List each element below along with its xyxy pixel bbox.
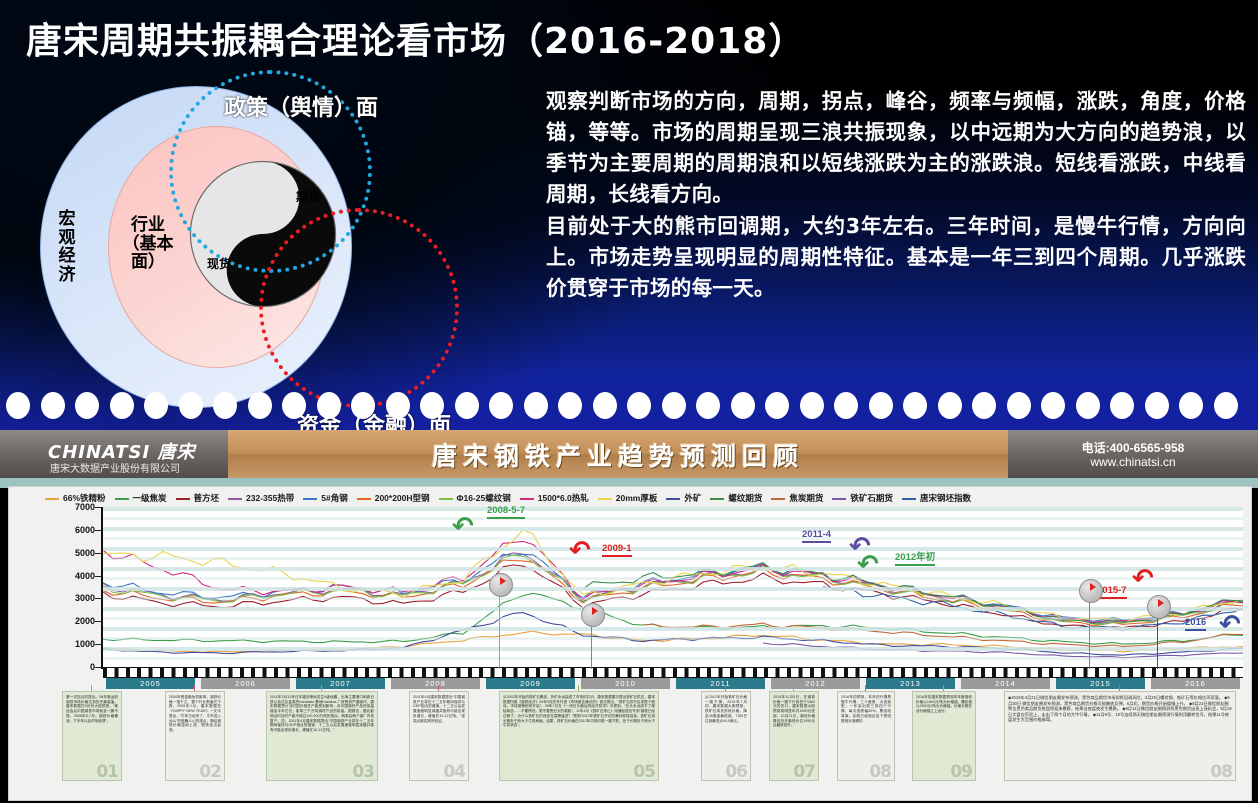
decorative-dot [179, 392, 203, 419]
decorative-dot [903, 392, 927, 419]
legend-color-swatch [303, 498, 317, 500]
decorative-dot [1041, 392, 1065, 419]
x-axis-ticks [103, 667, 1243, 678]
footnote-card[interactable]: 2016年初唐宋数据预测本年度钢坯价格以1800元/吨为价格锚，螺纹钢以2500… [912, 691, 976, 781]
legend-color-swatch [45, 498, 59, 500]
footnote-connector-line [793, 685, 794, 691]
decorative-dot [213, 392, 237, 419]
legend-item[interactable]: 螺纹期货 [710, 492, 762, 504]
footnote-number: 08 [869, 762, 891, 781]
chart-annotation-underline [487, 517, 525, 519]
chart-annotation-arrow-icon: ↶ [569, 537, 591, 563]
footnote-connector-line [943, 685, 944, 691]
decorative-dot [834, 392, 858, 419]
chart-annotation-underline [1097, 597, 1127, 599]
footnote-number: 05 [633, 762, 655, 781]
contact-website: www.chinatsi.cn [1008, 455, 1258, 469]
chart-annotation: 2011-4 [802, 529, 831, 543]
label-industry: 行业（基本面） [119, 216, 177, 272]
footnote-connector-line [865, 685, 866, 691]
legend-item-label: 1500*6.0热轧 [538, 493, 589, 503]
legend-item-label: 唐宋钢坯指数 [920, 493, 971, 503]
footnote-card[interactable]: 2011年4月唐宋数据提出“中国钢铁产业将在十二五年期间保持与GDP相近的增速。… [409, 691, 469, 781]
decorative-dot [41, 392, 65, 419]
footnote-card[interactable]: 从2002年开始的铁矿石暴涨，外矿永远缺成了市场的共识。唐宋数据屡次提出铁矿石供… [499, 691, 659, 781]
company-name: 唐宋大数据产业股份有限公司 [50, 460, 180, 475]
chart-annotation-underline [802, 541, 831, 543]
label-policy: 政策（舆情）面 [224, 90, 378, 122]
decorative-dot [1179, 392, 1203, 419]
legend-item[interactable]: 唐宋钢坯指数 [902, 492, 971, 504]
legend-item[interactable]: 普方坯 [176, 492, 220, 504]
decorative-dot [386, 392, 410, 419]
chart-gridband [103, 607, 1243, 611]
chart-gridband [103, 657, 1243, 660]
footnote-connector-line [438, 685, 439, 691]
legend-item[interactable]: 20mm厚板 [598, 492, 658, 504]
legend-item[interactable]: 1500*6.0热轧 [520, 492, 589, 504]
legend-item[interactable]: 外矿 [666, 492, 701, 504]
footnote-number: 06 [725, 762, 747, 781]
banner-left-block: CHINATSI 唐宋 唐宋大数据产业股份有限公司 [0, 430, 228, 478]
chart-gridband [103, 577, 1243, 580]
chart-event-marker-icon [489, 573, 513, 597]
chart-gridband [103, 547, 1243, 551]
legend-color-swatch [710, 498, 724, 500]
decorative-dot [524, 392, 548, 419]
y-axis-tick-label: 7000 [75, 502, 95, 512]
footnote-number: 04 [443, 762, 465, 781]
footnote-card[interactable]: 2016年初预测，本年的行情是慢牛行情，三十度角，大波浪型，一年会出现三到四个行… [837, 691, 895, 781]
legend-color-swatch [832, 498, 846, 500]
banner-center-block: 唐宋钢铁产业趋势预测回顾 [228, 430, 1008, 478]
footnote-card[interactable]: 从2012年开始铁矿石价格一路下滑。2015年7月初，唐宋数据大胆预测，铁矿石将… [701, 691, 751, 781]
chart-annotation: 2008-5-7 [487, 505, 525, 519]
y-axis-tick-label: 2000 [75, 616, 95, 626]
chart-annotation-arrow-icon: ↶ [857, 551, 879, 577]
banner-right-block: 电话:400-6565-958 www.chinatsi.cn [1008, 430, 1258, 478]
chart-gridband [103, 517, 1243, 520]
decorative-dot [282, 392, 306, 419]
legend-item[interactable]: 200*200H型钢 [357, 492, 430, 504]
footnote-number: 02 [199, 762, 221, 781]
footnote-card[interactable]: 2015年11月5日，在钢铁价格一路下行到低于1560元的关口，唐宋数据大胆预测… [769, 691, 819, 781]
chart-gridband [103, 637, 1243, 640]
page-title: 唐宋周期共振耦合理论看市场（2016-2018） [26, 12, 805, 64]
decorative-dot [455, 392, 479, 419]
legend-item-label: 200*200H型钢 [375, 493, 430, 503]
decorative-dot [1110, 392, 1134, 419]
chart-gridband [103, 587, 1243, 591]
decorative-dot [1145, 392, 1169, 419]
decorative-dot [489, 392, 513, 419]
paragraph-2: 目前处于大的熊市回调期，大约3年左右。三年时间，是慢牛行情，方向向上。市场走势呈… [546, 211, 1246, 304]
fund-dotted-circle [259, 208, 459, 408]
legend-item[interactable]: Φ16-25螺纹钢 [439, 492, 511, 504]
decorative-dot [110, 392, 134, 419]
decorative-dot [1007, 392, 1031, 419]
decorative-dot-strip [0, 392, 1258, 422]
slide-body-text: 观察判断市场的方向，周期，拐点，峰谷，频率与频幅，涨跌，角度，价格锚，等等。市场… [546, 86, 1246, 304]
chart-gridband [103, 647, 1243, 651]
chart-annotation-label: 2012年初 [895, 552, 935, 563]
decorative-dot [593, 392, 617, 419]
label-macro-economy: 宏观经济 [54, 210, 80, 285]
y-axis-tick-label: 6000 [75, 525, 95, 535]
presentation-slide: 唐宋周期共振耦合理论看市场（2016-2018） 宏观经济 行业（基本面） 现货 [0, 0, 1258, 430]
footnote-number: 01 [96, 762, 118, 781]
decorative-dot [75, 392, 99, 419]
chart-annotation-arrow-icon: ↶ [1132, 565, 1154, 591]
chart-annotation-label: 2016 [1185, 617, 1206, 628]
footnote-connector-line [91, 685, 92, 691]
chart-legend: 66%铁精粉一级焦炭普方坯232-355热带5#角钢200*200H型钢Φ16-… [45, 492, 1245, 508]
footnote-card[interactable]: 第一次拐点的提出。08年奥运前钢铁市场价格达到历史最高值。唐宋数据在5月份大胆预… [62, 691, 122, 781]
footnote-cards: 第一次拐点的提出。08年奥运前钢铁市场价格达到历史最高值。唐宋数据在5月份大胆预… [19, 685, 1241, 793]
decorative-dot [662, 392, 686, 419]
y-axis-tick-label: 1000 [75, 639, 95, 649]
y-axis-tick-label: 4000 [75, 571, 95, 581]
legend-item-label: 螺纹期货 [728, 493, 762, 503]
footnote-card[interactable]: 2011年3月11号日本福岛等地发生9级地震，出海主要港口和新日铁以及住友金属的… [266, 691, 378, 781]
legend-item-label: 外矿 [684, 493, 701, 503]
chart-annotation-underline [602, 555, 632, 557]
chart-event-marker-icon [581, 603, 605, 627]
banner-title: 唐宋钢铁产业趋势预测回顾 [228, 437, 1008, 473]
legend-color-swatch [439, 498, 453, 500]
decorative-dot [6, 392, 30, 419]
decorative-dot [696, 392, 720, 419]
legend-color-swatch [598, 498, 612, 500]
chart-annotation-label: 2008-5-7 [487, 505, 525, 516]
legend-item-label: 普方坯 [194, 493, 220, 503]
chart-annotation: 2012年初 [895, 549, 935, 566]
legend-item[interactable]: 5#角钢 [303, 492, 347, 504]
legend-item[interactable]: 一级焦炭 [115, 492, 167, 504]
paragraph-1: 观察判断市场的方向，周期，拐点，峰谷，频率与频幅，涨跌，角度，价格锚，等等。市场… [546, 86, 1246, 211]
chart-panel: 66%铁精粉一级焦炭普方坯232-355热带5#角钢200*200H型钢Φ16-… [8, 486, 1252, 801]
decorative-dot [869, 392, 893, 419]
legend-color-swatch [520, 498, 534, 500]
chart-gridband [103, 537, 1243, 540]
footnote-connector-line [725, 685, 726, 691]
chart-gridband [103, 597, 1243, 600]
footnote-text: ◆2016年4月21日微信朋友圈发布预测，黑色商品期货市场即将回调风险，4月25… [1005, 692, 1235, 779]
chart-gridband [103, 627, 1243, 631]
chart-annotation-label: 2009-1 [602, 543, 632, 554]
label-futures: 期货 [296, 191, 320, 204]
footnote-number: 08 [1210, 762, 1232, 781]
contact-phone: 电话:400-6565-958 [1008, 439, 1258, 456]
chart-annotation-underline [895, 564, 935, 566]
chart-gridband [103, 507, 1243, 511]
y-axis-tick-label: 3000 [75, 593, 95, 603]
y-axis: 70006000500040003000200010000 [57, 507, 101, 667]
chart-gridband [103, 617, 1243, 620]
decorative-dot [765, 392, 789, 419]
chart-gridband [103, 567, 1243, 571]
decorative-dot [420, 392, 444, 419]
chart-annotation-underline [1185, 629, 1206, 631]
chart-annotation-arrow-icon: ↶ [452, 513, 474, 539]
footnote-connector-line [578, 685, 579, 691]
legend-item-label: 5#角钢 [321, 493, 347, 503]
chart-annotation: 2016 [1185, 617, 1206, 631]
footnote-card[interactable]: ◆2016年4月21日微信朋友圈发布预测，黑色商品期货市场即将回调风险，4月25… [1004, 691, 1236, 781]
legend-item[interactable]: 232-355热带 [228, 492, 294, 504]
decorative-dot [938, 392, 962, 419]
plot-area [103, 507, 1243, 667]
chart-gridband [103, 527, 1243, 531]
legend-color-swatch [902, 498, 916, 500]
legend-item-label: 一级焦炭 [133, 493, 167, 503]
chart-area: 70006000500040003000200010000 2005200620… [57, 507, 1247, 682]
y-axis-tick-label: 5000 [75, 548, 95, 558]
chart-annotation-label: 2011-4 [802, 529, 831, 540]
decorative-dot [248, 392, 272, 419]
legend-item[interactable]: 焦炭期货 [771, 492, 823, 504]
legend-color-swatch [115, 498, 129, 500]
legend-color-swatch [176, 498, 190, 500]
legend-color-swatch [666, 498, 680, 500]
decorative-dot [558, 392, 582, 419]
footnote-number: 03 [352, 762, 374, 781]
chart-event-marker-icon [1079, 579, 1103, 603]
decorative-dot [317, 392, 341, 419]
footnote-connector-line [1119, 685, 1120, 691]
chart-event-marker-icon [1147, 595, 1171, 619]
brand-banner: CHINATSI 唐宋 唐宋大数据产业股份有限公司 唐宋钢铁产业趋势预测回顾 电… [0, 430, 1258, 478]
chart-annotation: 2009-1 [602, 543, 632, 557]
venn-diagram: 宏观经济 行业（基本面） 现货 期货 政策（舆情）面 资金（金融）面 [14, 68, 534, 418]
legend-item-label: 232-355热带 [246, 493, 294, 503]
chart-gridband [103, 557, 1243, 560]
decorative-dot [627, 392, 651, 419]
footnote-number: 07 [793, 762, 815, 781]
footnote-connector-line [194, 685, 195, 691]
legend-item-label: 焦炭期货 [789, 493, 823, 503]
legend-color-swatch [357, 498, 371, 500]
chart-annotation-arrow-icon: ↶ [1219, 611, 1241, 637]
decorative-dot [800, 392, 824, 419]
decorative-dot [1076, 392, 1100, 419]
footnote-card[interactable]: 2008年受金融危机影响，钢铁价格一落千丈，整个行业断崖式下跌。2009年1月，… [165, 691, 225, 781]
decorative-dot [1214, 392, 1238, 419]
legend-item-label: 20mm厚板 [616, 493, 658, 503]
legend-item[interactable]: 铁矿石期货 [832, 492, 893, 504]
decorative-dot [972, 392, 996, 419]
legend-color-swatch [228, 498, 242, 500]
legend-item-label: Φ16-25螺纹钢 [457, 493, 511, 503]
decorative-dot [144, 392, 168, 419]
footnote-connector-line [321, 685, 322, 691]
slide-page: 唐宋周期共振耦合理论看市场（2016-2018） 宏观经济 行业（基本面） 现货 [0, 0, 1258, 803]
footnote-number: 09 [950, 762, 972, 781]
legend-color-swatch [771, 498, 785, 500]
label-spot: 现货 [207, 258, 231, 271]
decorative-dot [731, 392, 755, 419]
decorative-dot [351, 392, 375, 419]
legend-item-label: 铁矿石期货 [850, 493, 893, 503]
